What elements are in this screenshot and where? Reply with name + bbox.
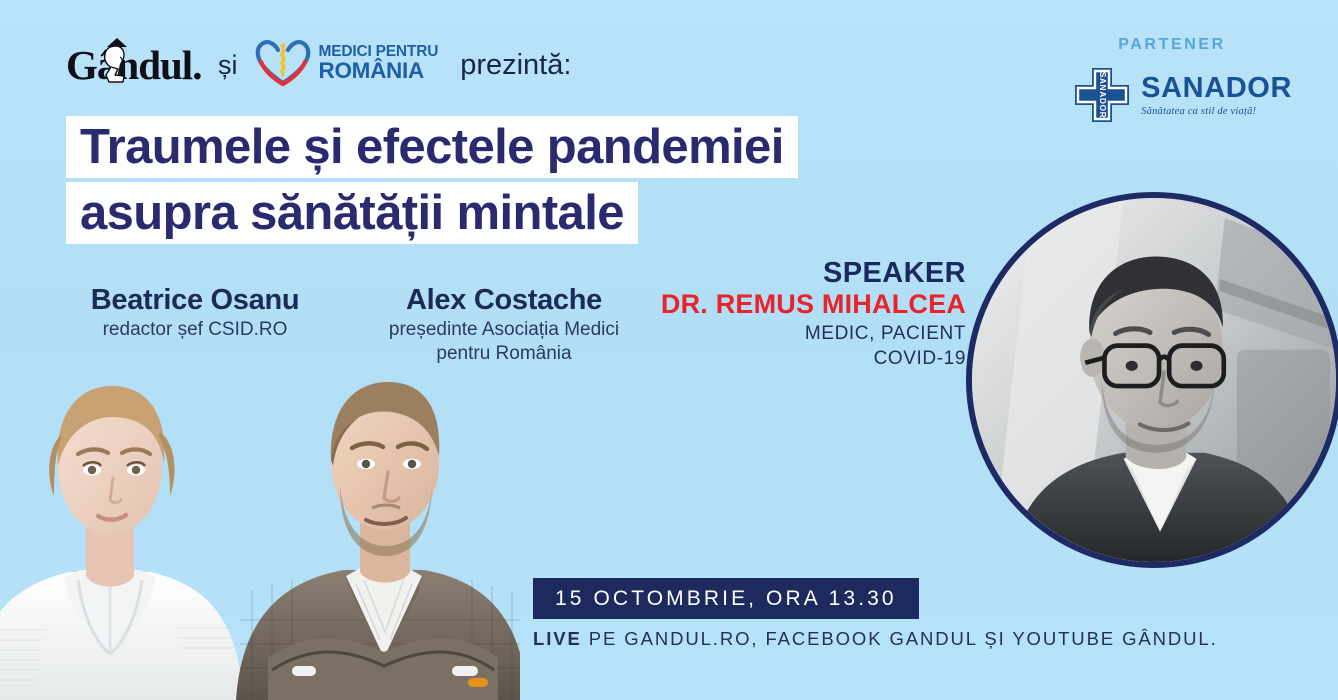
speaker-portrait-photo [966,192,1338,568]
host-photos [0,340,520,700]
conjunction-si: și [218,50,238,81]
partner-block: PARTENER SANADOR SANADOR Sănătatea ca st… [1052,36,1292,126]
live-channels: PE GANDUL.RO, FACEBOOK GANDUL ȘI YOUTUBE… [582,628,1218,649]
medici-pentru-romania-logo[interactable]: MEDICI PENTRU ROMÂNIA [254,38,439,88]
sanador-tagline: Sănătatea ca stil de viață! [1141,106,1256,117]
presents-label: prezintă: [460,49,571,82]
medical-cross-icon: SANADOR [1071,64,1133,126]
speaker-label: SPEAKER [661,258,966,288]
host-beatrice-osanu: Beatrice Osanu redactor șef CSID.RO [50,285,340,341]
host-name: Beatrice Osanu [50,285,340,317]
host-role: redactor șef CSID.RO [50,319,340,341]
partener-label: PARTENER [1052,36,1292,54]
title-line-1: Traumele și efectele pandemiei [66,116,798,178]
host-role-line-1: președinte Asociația Medici [358,319,650,341]
title-line-2: asupra sănătății mintale [66,182,638,244]
host-photos-illustration [0,340,520,700]
speaker-portrait-illustration [972,198,1336,562]
live-prefix: LIVE [533,628,582,649]
svg-text:SANADOR: SANADOR [1098,72,1108,119]
host-name: Alex Costache [358,285,650,317]
speaker-role-line-1: MEDIC, PACIENT [661,323,966,346]
header-row: Gândul. și MEDICI PENTRU ROMÂNIA [66,38,571,88]
mpr-line-2: ROMÂNIA [319,60,439,82]
speaker-block: SPEAKER DR. REMUS MIHALCEA MEDIC, PACIEN… [661,258,966,371]
event-datetime-badge: 15 OCTOMBRIE, ORA 13.30 [533,578,919,619]
live-channels-line: LIVE PE GANDUL.RO, FACEBOOK GANDUL ȘI YO… [533,628,1218,650]
gandul-logo-text: Gândul. [66,45,201,86]
speaker-name: DR. REMUS MIHALCEA [661,289,966,319]
sanador-wordmark: SANADOR [1141,74,1292,103]
speaker-role-line-2: COVID-19 [661,348,966,371]
host-photo-alex [236,382,520,700]
sanador-logo[interactable]: SANADOR SANADOR Sănătatea ca stil de via… [1052,64,1292,126]
sanador-text-block: SANADOR Sănătatea ca stil de viață! [1141,74,1292,117]
host-photo-beatrice [0,386,244,700]
mpr-logo-text: MEDICI PENTRU ROMÂNIA [319,45,439,81]
gandul-logo[interactable]: Gândul. [66,40,204,86]
heart-caduceus-icon [254,38,312,88]
event-promo-banner: Gândul. și MEDICI PENTRU ROMÂNIA [0,0,1338,700]
